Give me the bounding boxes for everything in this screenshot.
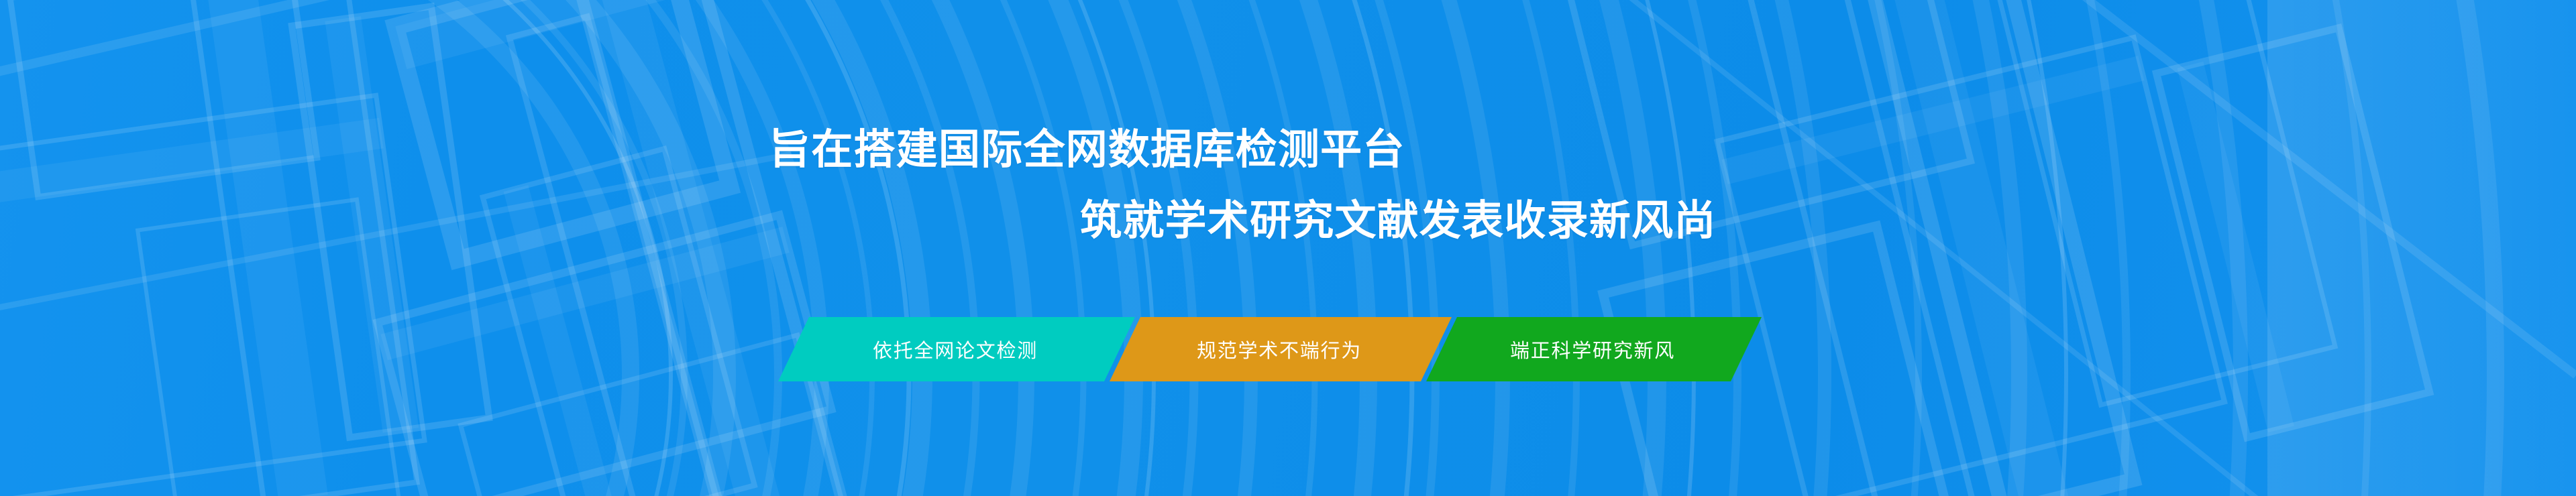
- feature-tag-2[interactable]: 规范学术不端行为: [1110, 317, 1452, 381]
- feature-tag-3[interactable]: 端正科学研究新风: [1426, 317, 1762, 381]
- feature-tag-3-label: 端正科学研究新风: [1510, 335, 1675, 363]
- headline-line-2: 筑就学术研究文献发表收录新风尚: [1080, 200, 1717, 242]
- feature-tag-1-label: 依托全网论文检测: [873, 335, 1038, 363]
- headline-block: 旨在搭建国际全网数据库检测平台 筑就学术研究文献发表收录新风尚: [0, 0, 2576, 496]
- feature-tag-strip: 依托全网论文检测 规范学术不端行为 端正科学研究新风: [778, 317, 1762, 381]
- feature-tag-1[interactable]: 依托全网论文检测: [778, 317, 1135, 381]
- promo-banner: 旨在搭建国际全网数据库检测平台 筑就学术研究文献发表收录新风尚 依托全网论文检测…: [0, 0, 2576, 496]
- feature-tag-2-label: 规范学术不端行为: [1197, 335, 1362, 363]
- headline-line-1: 旨在搭建国际全网数据库检测平台: [769, 129, 1405, 171]
